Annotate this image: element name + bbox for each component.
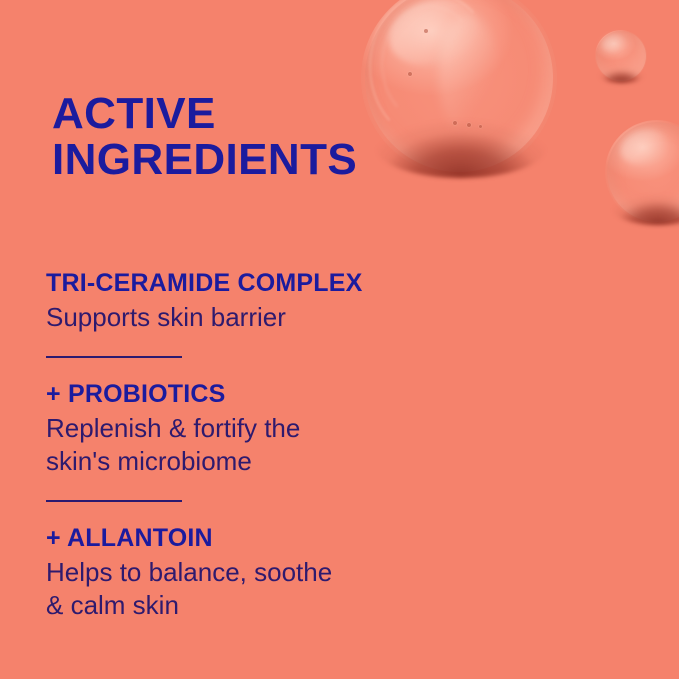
droplet-highlight-ring-inner (381, 5, 479, 123)
droplet-sheen (439, 15, 498, 137)
section-divider (46, 356, 182, 358)
droplet-gloss (381, 0, 486, 75)
ingredient-description: Replenish & fortify the skin's microbiom… (46, 412, 486, 478)
ingredient-description: Supports skin barrier (46, 301, 486, 334)
droplet-rim-light (607, 122, 679, 222)
ingredient-item-allantoin: + ALLANTOIN Helps to balance, soothe & c… (46, 523, 486, 622)
droplet-bubble-speck (467, 123, 471, 127)
droplet-shadow (599, 67, 644, 83)
droplet-shadow (613, 194, 679, 225)
ingredient-description: Helps to balance, soothe & calm skin (46, 556, 486, 622)
ingredient-item-tri-ceramide-complex: TRI-CERAMIDE COMPLEX Supports skin barri… (46, 268, 486, 334)
droplet-body (605, 120, 679, 224)
large-gel-droplet-icon (361, 0, 557, 176)
droplet-bubble-speck (408, 72, 412, 76)
medium-gel-droplet-icon (605, 120, 679, 224)
section-divider (46, 500, 182, 502)
ingredient-heading: TRI-CERAMIDE COMPLEX (46, 268, 486, 298)
ingredient-heading: + PROBIOTICS (46, 379, 486, 409)
droplet-gloss (600, 32, 628, 55)
ingredient-description-line-1: Replenish & fortify the (46, 412, 486, 445)
page-title-line-1: ACTIVE (52, 91, 357, 137)
droplet-rim-light (596, 31, 646, 81)
droplet-shadow (377, 119, 546, 178)
page-title: ACTIVE INGREDIENTS (52, 91, 357, 183)
droplet-rim-light (365, 0, 553, 172)
droplet-body (595, 30, 647, 82)
droplet-gloss (616, 124, 672, 170)
droplet-body (361, 0, 557, 176)
gel-droplet-decoration-group (349, 0, 679, 250)
droplet-bubble-speck (479, 125, 482, 128)
droplet-bubble-speck (424, 29, 428, 33)
droplet-bubble-speck (453, 121, 457, 125)
ingredient-heading: + ALLANTOIN (46, 523, 486, 553)
ingredient-list: TRI-CERAMIDE COMPLEX Supports skin barri… (46, 268, 486, 622)
ingredient-description-line-2: & calm skin (46, 589, 486, 622)
ingredient-description-line-2: skin's microbiome (46, 445, 486, 478)
active-ingredients-poster: ACTIVE INGREDIENTS TRI-CERAMIDE COMPLEX … (0, 0, 679, 679)
page-title-line-2: INGREDIENTS (52, 137, 357, 183)
ingredient-description-line-1: Supports skin barrier (46, 301, 486, 334)
ingredient-item-probiotics: + PROBIOTICS Replenish & fortify the ski… (46, 379, 486, 478)
small-gel-droplet-icon (595, 30, 647, 82)
droplet-highlight-ring-outer (369, 0, 495, 141)
ingredient-description-line-1: Helps to balance, soothe (46, 556, 486, 589)
